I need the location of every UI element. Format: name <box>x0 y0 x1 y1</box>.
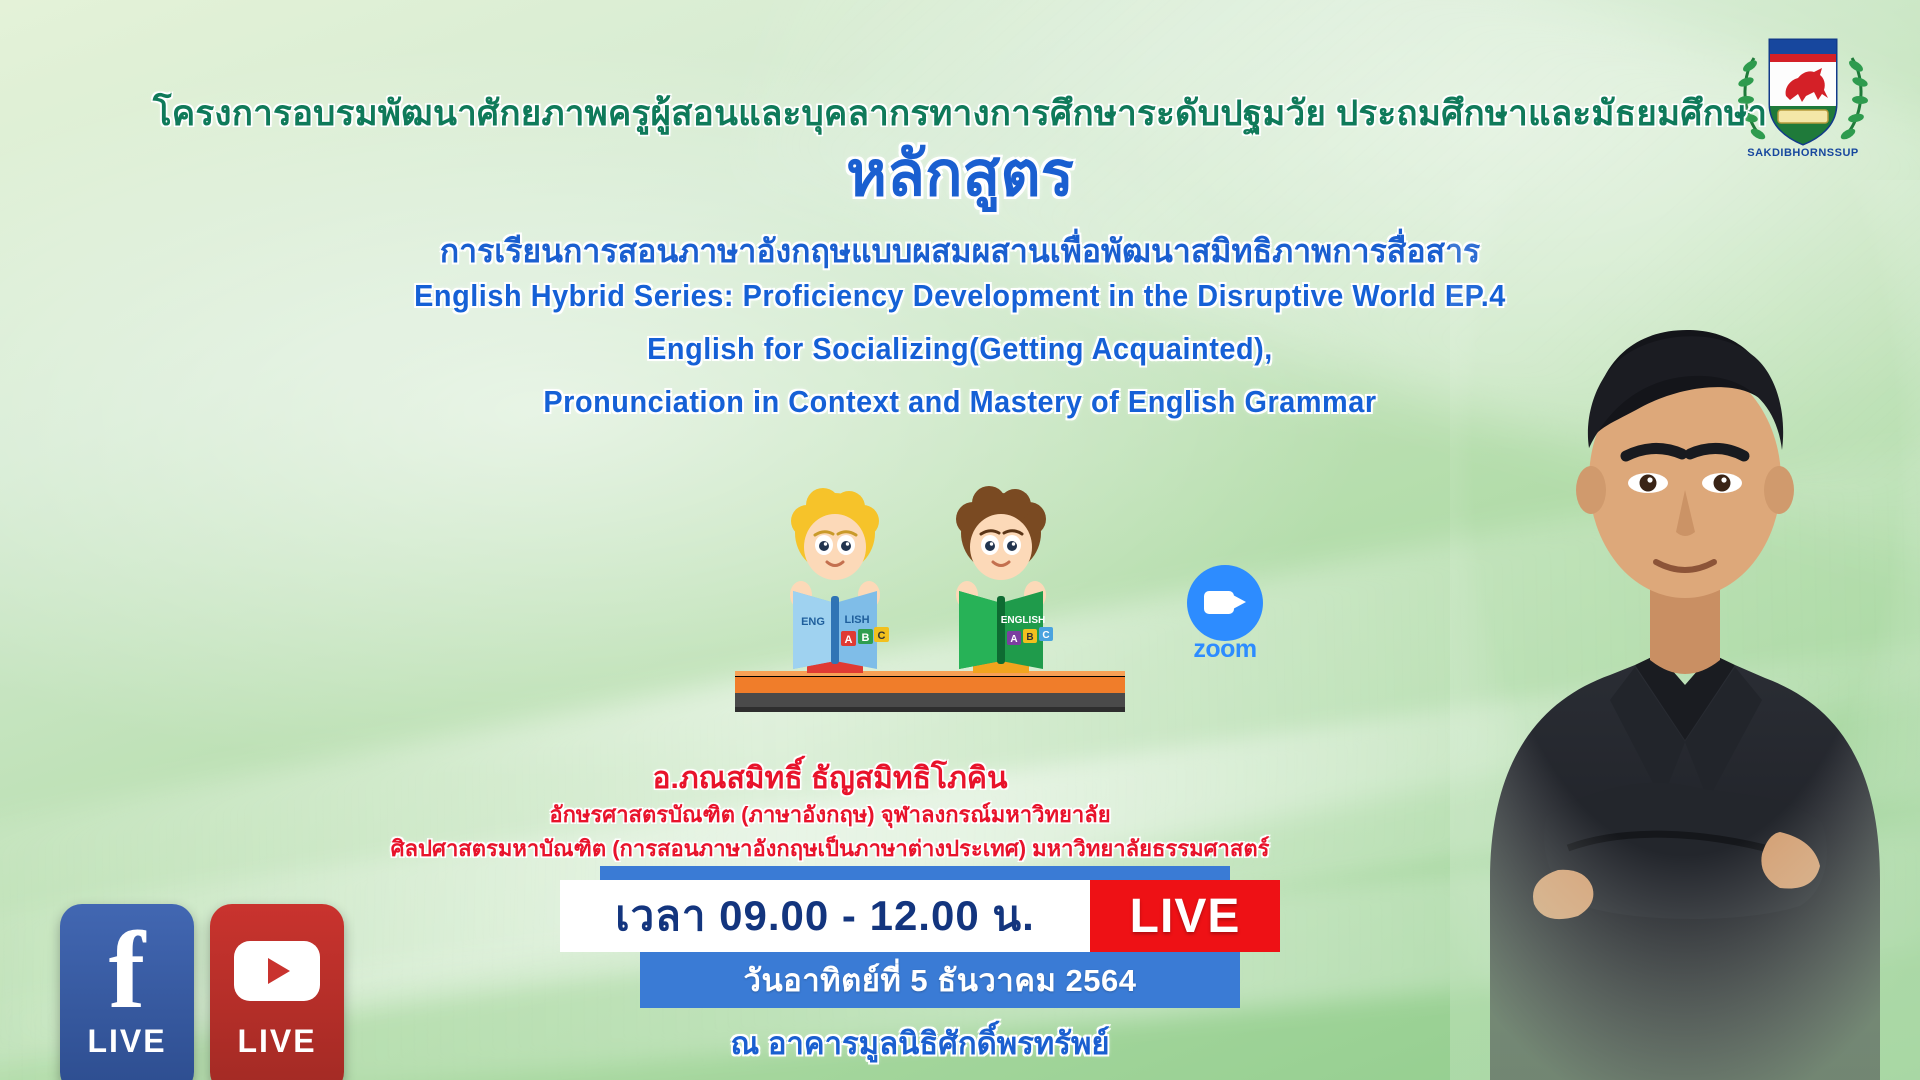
svg-text:B: B <box>1026 632 1033 643</box>
svg-text:ENGLISH: ENGLISH <box>1001 615 1045 626</box>
time-row: เวลา 09.00 - 12.00 น. LIVE <box>560 880 1280 952</box>
time-panel: เวลา 09.00 - 12.00 น. <box>560 880 1090 952</box>
svg-text:ENG: ENG <box>801 616 825 628</box>
svg-text:C: C <box>1042 630 1049 641</box>
venue-text: ณ อาคารมูลนิธิศักดิ์พรทรัพย์ <box>560 1018 1280 1068</box>
date-bar: วันอาทิตย์ที่ 5 ธันวาคม 2564 <box>640 952 1240 1008</box>
program-line: โครงการอบรมพัฒนาศักยภาพครูผู้สอนและบุคลา… <box>0 86 1920 141</box>
live-badge-label: LIVE <box>1130 889 1241 944</box>
youtube-live-label: LIVE <box>237 1023 316 1060</box>
youtube-play-icon <box>210 904 344 1023</box>
presenter-photo <box>1450 180 1920 1080</box>
poster-canvas: SAKDIBHORNSSUP โครงการอบรมพัฒนาศักยภาพคร… <box>0 0 1920 1080</box>
svg-text:C: C <box>878 630 886 642</box>
speaker-degree-2: ศิลปศาสตรมหาบัณฑิต (การสอนภาษาอังกฤษเป็น… <box>300 831 1360 866</box>
time-top-accent-bar <box>600 866 1230 880</box>
svg-text:A: A <box>1010 634 1017 645</box>
zoom-logo: zoom <box>1175 565 1275 657</box>
live-badge: LIVE <box>1090 880 1280 952</box>
facebook-live-label: LIVE <box>87 1023 166 1060</box>
svg-text:LISH: LISH <box>844 614 869 626</box>
speaker-degree-1: อักษรศาสตรบัณฑิต (ภาษาอังกฤษ) จุฬาลงกรณ์… <box>300 797 1360 832</box>
time-text: เวลา 09.00 - 12.00 น. <box>615 883 1035 949</box>
facebook-f-icon: f <box>60 904 194 1023</box>
svg-text:B: B <box>862 632 870 644</box>
kids-reading-illustration: ENG LISH A B C <box>735 465 1125 715</box>
speaker-name: อ.ภณสมิทธิ์ ธัญสมิทธิโภคิน <box>300 755 1360 802</box>
svg-text:A: A <box>845 634 853 646</box>
zoom-video-icon <box>1187 565 1263 641</box>
youtube-live-button[interactable]: LIVE <box>210 904 344 1080</box>
facebook-live-button[interactable]: f LIVE <box>60 904 194 1080</box>
date-text: วันอาทิตย์ที่ 5 ธันวาคม 2564 <box>744 955 1137 1005</box>
